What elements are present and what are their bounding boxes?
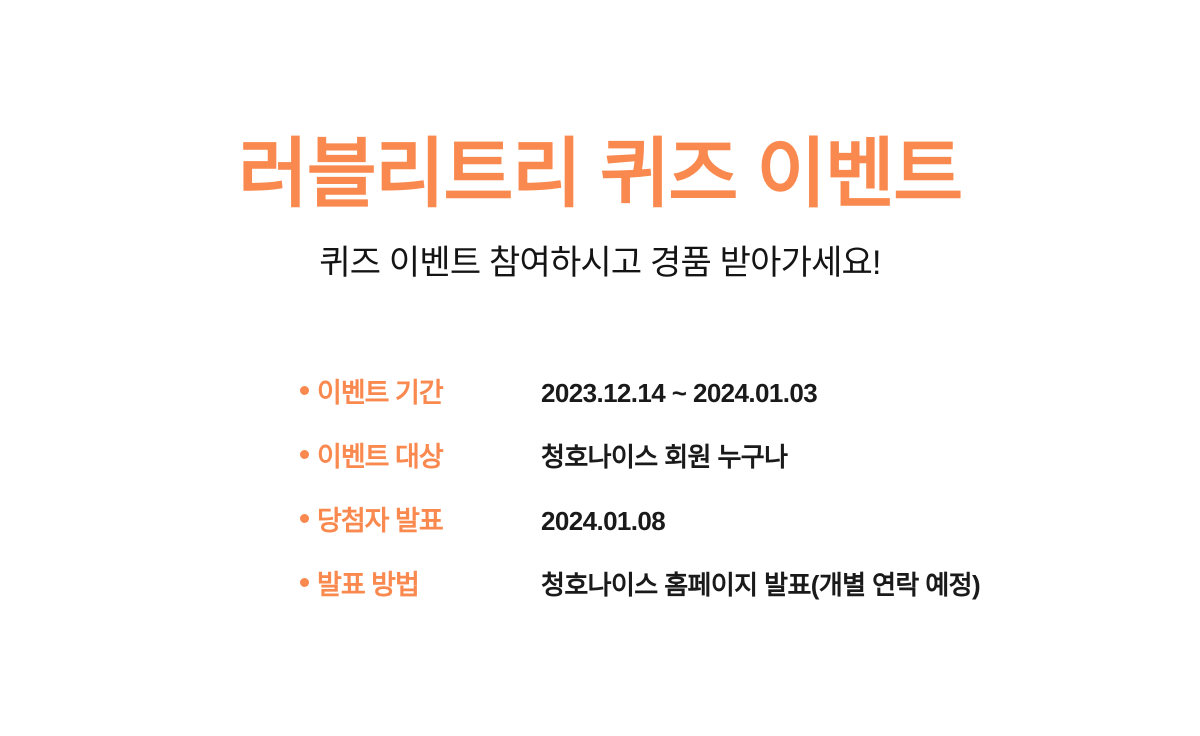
banner-header: 러블리트리 퀴즈 이벤트 퀴즈 이벤트 참여하시고 경품 받아가세요! bbox=[0, 132, 1200, 284]
dot-bullet-icon bbox=[300, 514, 309, 523]
list-item: 이벤트 기간 2023.12.14 ~ 2024.01.03 bbox=[300, 380, 1060, 444]
detail-label-event-period: 이벤트 기간 bbox=[317, 380, 541, 407]
detail-label-announcement-method: 발표 방법 bbox=[317, 572, 541, 599]
event-promo-banner: 러블리트리 퀴즈 이벤트 퀴즈 이벤트 참여하시고 경품 받아가세요! 이벤트 … bbox=[0, 0, 1200, 736]
detail-value-announcement-method: 청호나이스 홈페이지 발표(개별 연락 예정) bbox=[541, 572, 1060, 598]
page-title: 러블리트리 퀴즈 이벤트 bbox=[0, 132, 1200, 217]
event-details-list: 이벤트 기간 2023.12.14 ~ 2024.01.03 이벤트 대상 청호… bbox=[300, 380, 1060, 636]
detail-value-winner-announcement: 2024.01.08 bbox=[541, 508, 1060, 534]
page-subtitle: 퀴즈 이벤트 참여하시고 경품 받아가세요! bbox=[0, 243, 1200, 284]
detail-value-event-target: 청호나이스 회원 누구나 bbox=[541, 444, 1060, 470]
dot-bullet-icon bbox=[300, 386, 309, 395]
detail-label-event-target: 이벤트 대상 bbox=[317, 444, 541, 471]
dot-bullet-icon bbox=[300, 450, 309, 459]
list-item: 발표 방법 청호나이스 홈페이지 발표(개별 연락 예정) bbox=[300, 572, 1060, 636]
detail-value-event-period: 2023.12.14 ~ 2024.01.03 bbox=[541, 380, 1060, 406]
list-item: 이벤트 대상 청호나이스 회원 누구나 bbox=[300, 444, 1060, 508]
dot-bullet-icon bbox=[300, 578, 309, 587]
list-item: 당첨자 발표 2024.01.08 bbox=[300, 508, 1060, 572]
detail-label-winner-announcement: 당첨자 발표 bbox=[317, 508, 541, 535]
